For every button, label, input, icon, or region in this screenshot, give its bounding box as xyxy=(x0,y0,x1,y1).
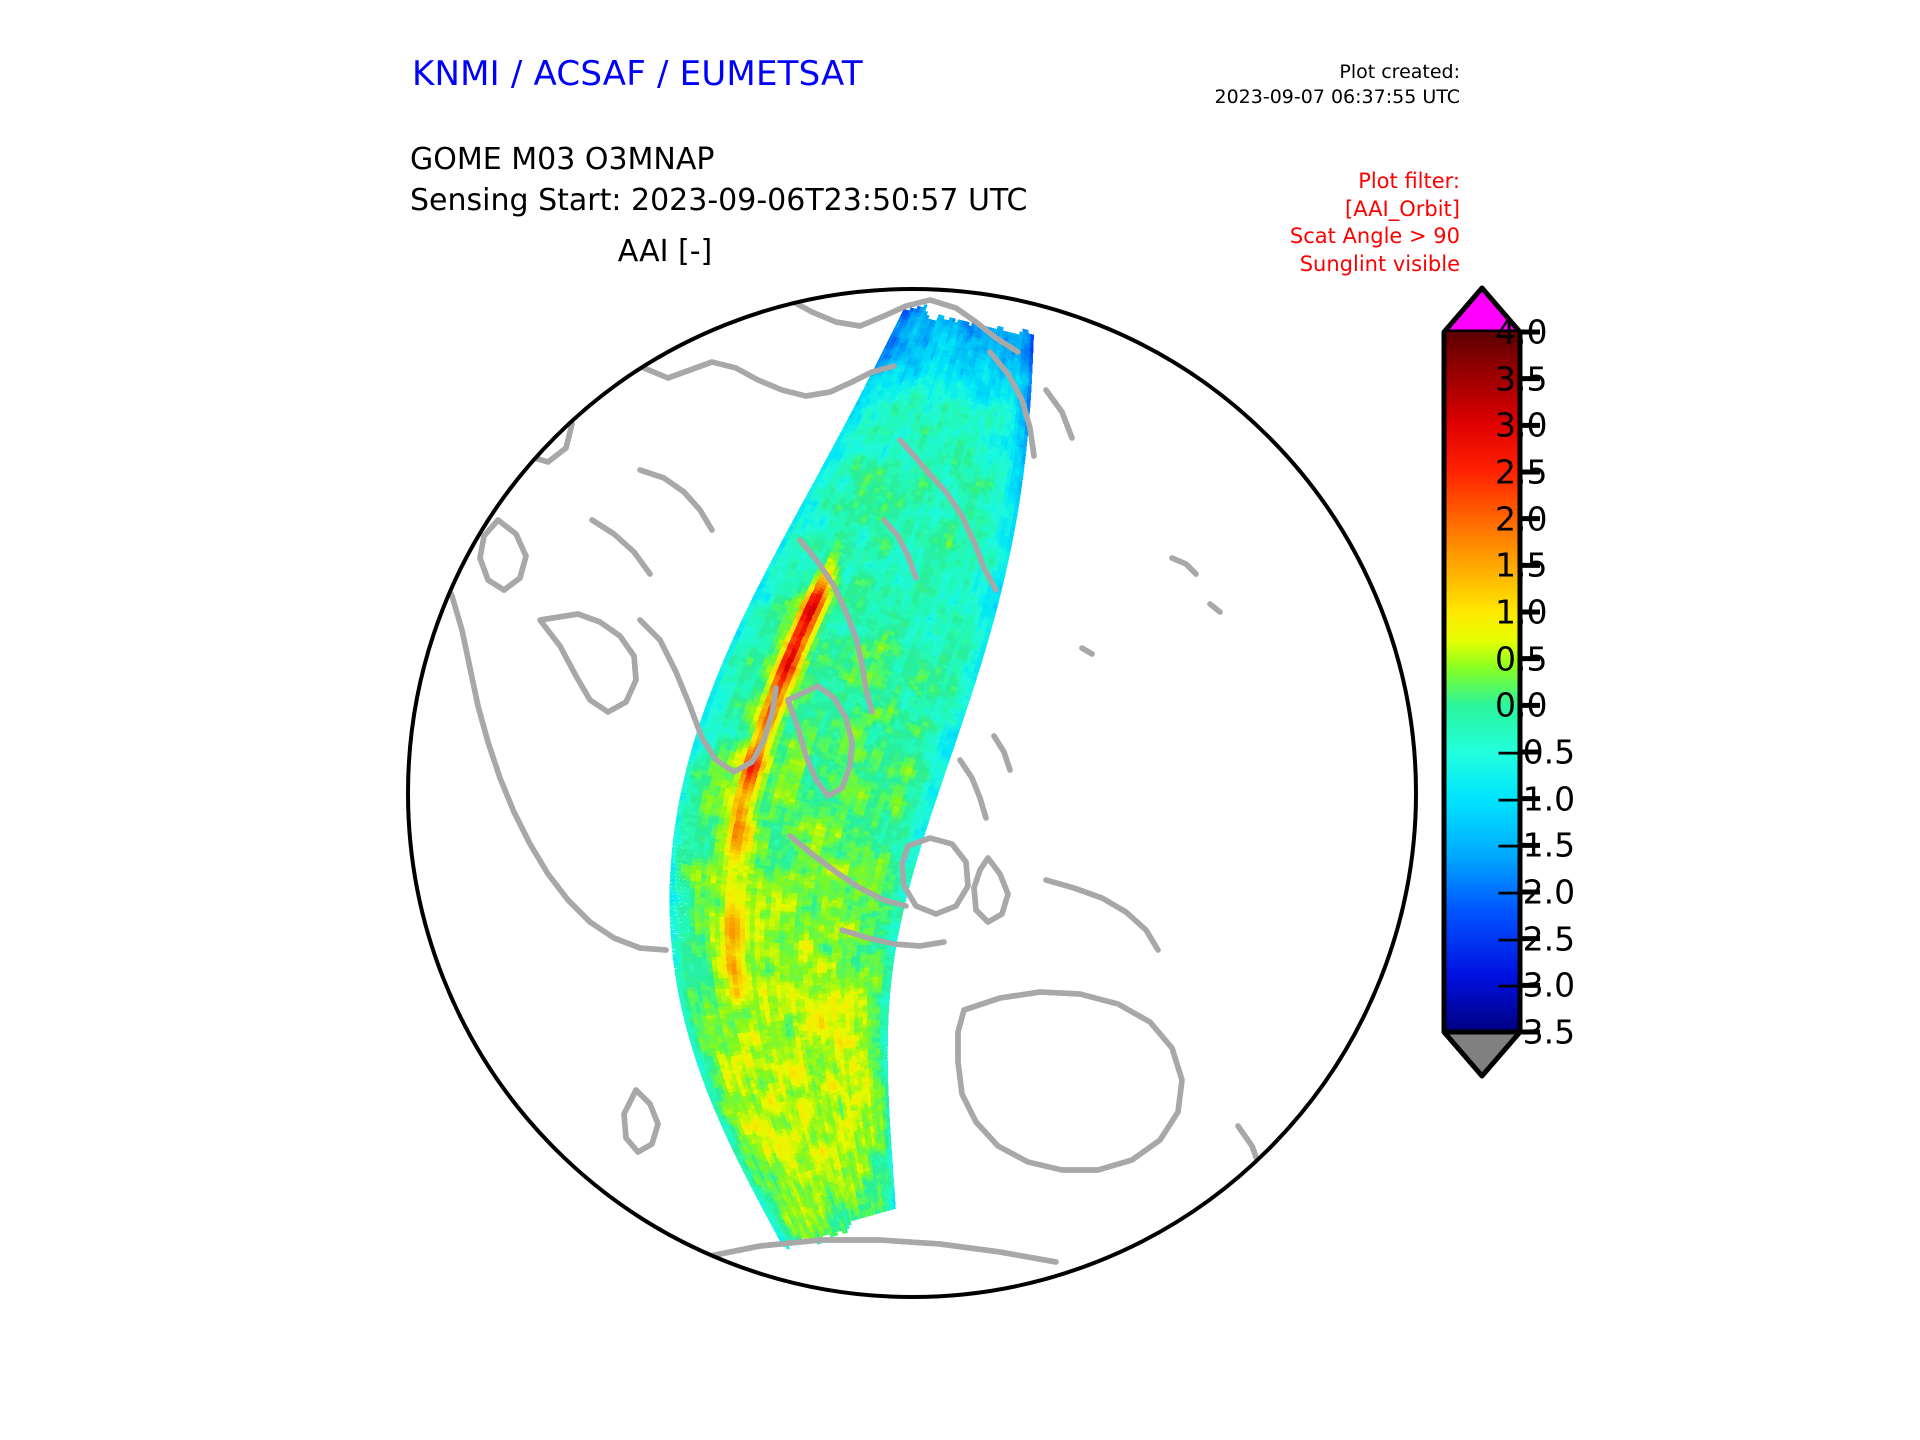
colorbar-tick-label: −1.0 xyxy=(1495,779,1575,818)
colorbar-tick-label: −2.5 xyxy=(1495,919,1575,958)
plot-created-block: Plot created: 2023-09-07 06:37:55 UTC xyxy=(1215,60,1461,110)
colorbar-tick-label: 3.0 xyxy=(1495,406,1547,445)
plot-filter-line-3: Scat Angle > 90 xyxy=(1290,223,1460,251)
colorbar-tick-label: 1.0 xyxy=(1495,593,1547,632)
plot-filter-line-2: [AAI_Orbit] xyxy=(1290,196,1460,224)
title-block: GOME M03 O3MNAP Sensing Start: 2023-09-0… xyxy=(410,140,1027,221)
colorbar-tick-label: −0.5 xyxy=(1495,733,1575,772)
colorbar-tick-label: 2.0 xyxy=(1495,499,1547,538)
plot-created-time: 2023-09-07 06:37:55 UTC xyxy=(1215,85,1461,110)
colorbar-tick-label: 1.5 xyxy=(1495,546,1547,585)
sensing-start: Sensing Start: 2023-09-06T23:50:57 UTC xyxy=(410,181,1027,222)
agency-header: KNMI / ACSAF / EUMETSAT xyxy=(412,54,863,94)
variable-title: AAI [-] xyxy=(0,234,1330,269)
swath-cell-group xyxy=(1030,348,1033,352)
plot-created-label: Plot created: xyxy=(1215,60,1461,85)
colorbar-tick-label: 3.5 xyxy=(1495,359,1547,398)
colorbar-tick-label: 0.0 xyxy=(1495,686,1547,725)
colorbar: 4.03.53.02.52.01.51.00.50.0−0.5−1.0−1.5−… xyxy=(1437,280,1687,1110)
instrument-title: GOME M03 O3MNAP xyxy=(410,140,1027,181)
colorbar-tick-label: 0.5 xyxy=(1495,639,1547,678)
plot-filter-line-4: Sunglint visible xyxy=(1290,251,1460,279)
plot-filter-block: Plot filter: [AAI_Orbit] Scat Angle > 90… xyxy=(1290,168,1460,278)
colorbar-tick-label: −2.0 xyxy=(1495,873,1575,912)
colorbar-tick-label: 2.5 xyxy=(1495,453,1547,492)
plot-filter-line-1: Plot filter: xyxy=(1290,168,1460,196)
colorbar-tick-label: −3.0 xyxy=(1495,966,1575,1005)
colorbar-tick-label: −1.5 xyxy=(1495,826,1575,865)
plot-page: KNMI / ACSAF / EUMETSAT Plot created: 20… xyxy=(0,0,1920,1440)
swath-cell-group xyxy=(813,938,818,941)
colorbar-tick-label: −3.5 xyxy=(1495,1013,1575,1052)
colorbar-tick-label: 4.0 xyxy=(1495,313,1547,352)
